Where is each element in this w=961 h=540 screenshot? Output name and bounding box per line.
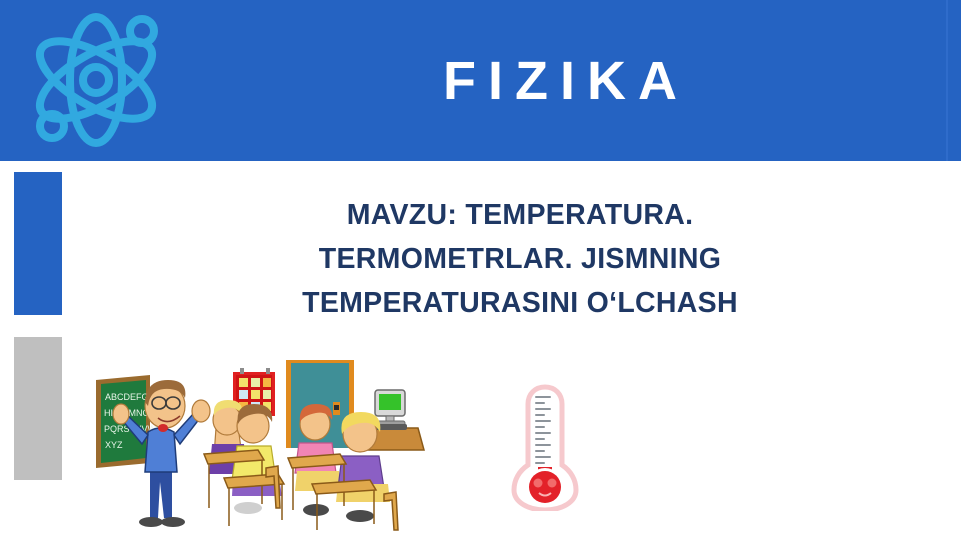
- atom-icon: [26, 9, 166, 151]
- header-band: FIZIKA: [0, 0, 961, 161]
- svg-text:ABCDEFG: ABCDEFG: [105, 392, 149, 402]
- page-title: FIZIKA: [170, 0, 950, 161]
- thermometer-illustration: [505, 383, 585, 511]
- heading-line-1: MAVZU: TEMPERATURA.: [120, 193, 920, 237]
- blue-accent-bar: [14, 172, 62, 315]
- classroom-illustration: ABCDEFG HIJKLMNO PQRSTUVW XYZ: [88, 358, 428, 538]
- slide: FIZIKA MAVZU: TEMPERATURA. TERMOMETRLAR.…: [0, 0, 961, 540]
- heading: MAVZU: TEMPERATURA. TERMOMETRLAR. JISMNI…: [120, 193, 920, 325]
- heading-line-2: TERMOMETRLAR. JISMNING: [120, 237, 920, 281]
- heading-line-3: TEMPERATURASINI O‘LCHASH: [120, 281, 920, 325]
- gray-accent-bar: [14, 337, 62, 480]
- svg-text:XYZ: XYZ: [105, 440, 123, 450]
